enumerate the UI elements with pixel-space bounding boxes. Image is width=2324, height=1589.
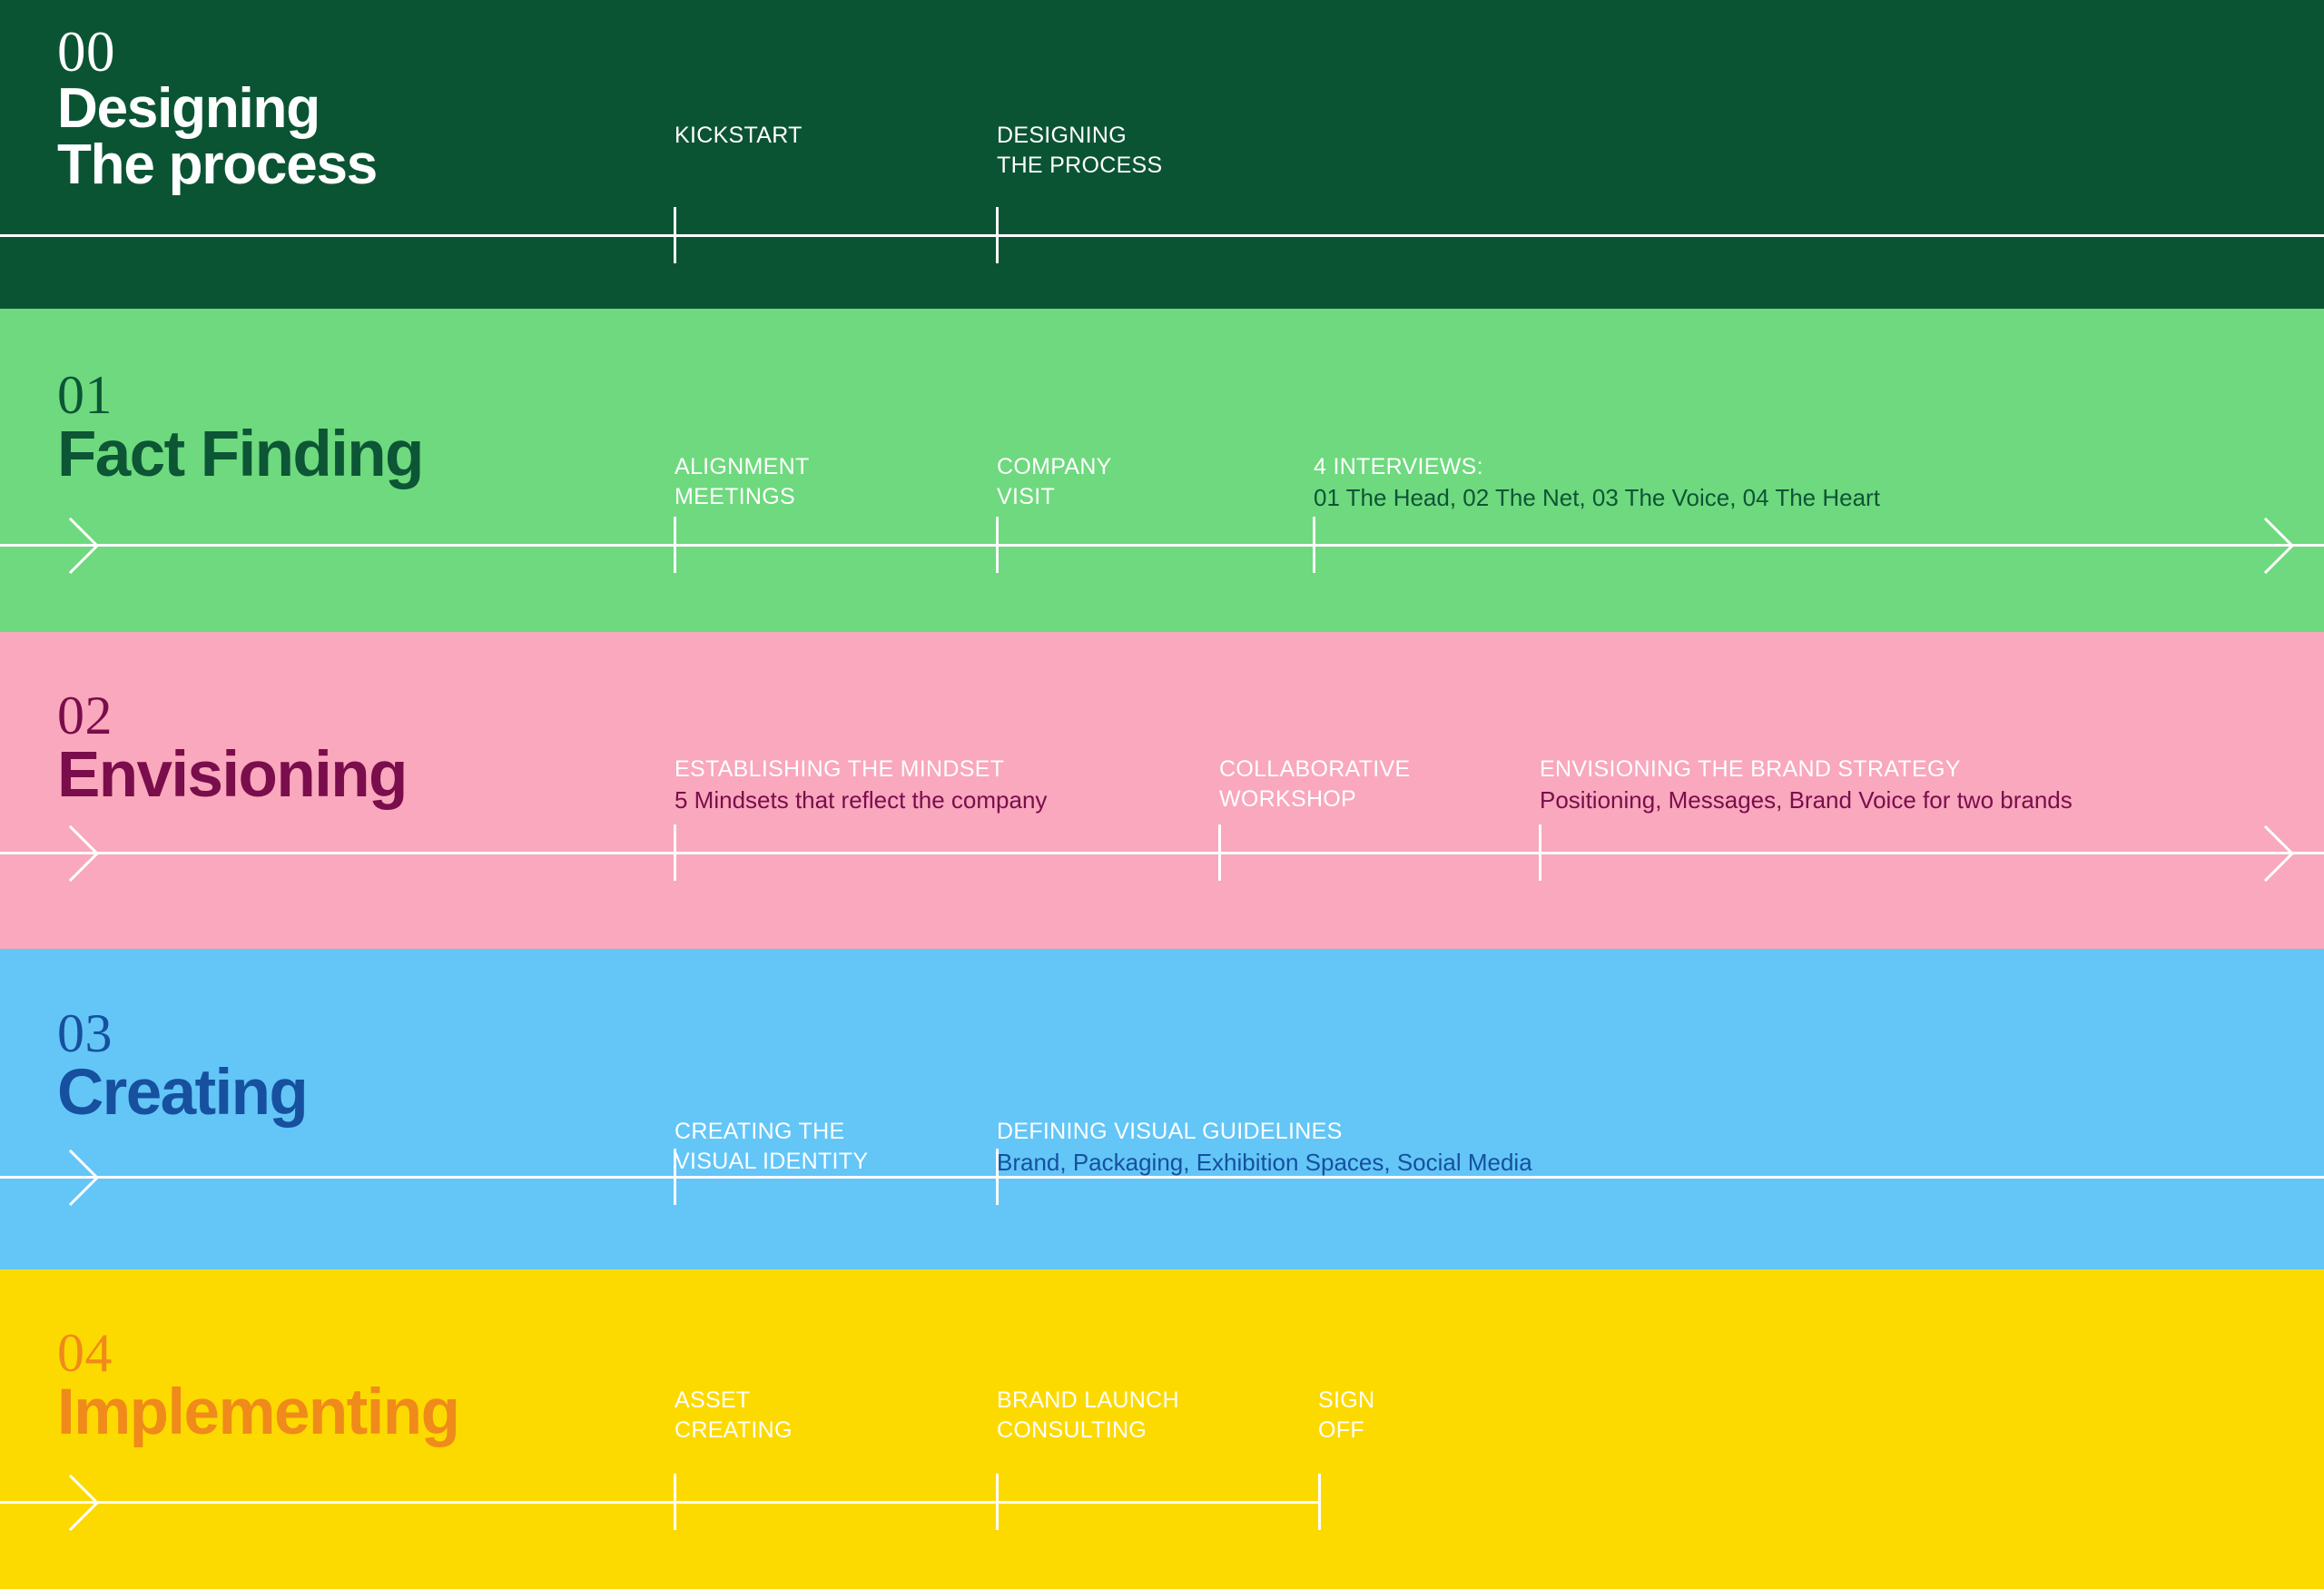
phase-03-timeline <box>0 1176 2324 1179</box>
phase-01-tick-2 <box>996 517 999 573</box>
phase-04-timeline-bar <box>0 1501 1321 1504</box>
phase-04-milestone-3[interactable]: SIGN OFF <box>1318 1386 1374 1446</box>
phase-02-milestone-1-caption: ESTABLISHING THE MINDSET <box>675 755 1047 785</box>
phase-04-milestone-2-caption-line1: BRAND LAUNCH <box>997 1386 1179 1416</box>
phase-04-milestone-1-caption-line1: ASSET <box>675 1386 793 1416</box>
phase-01-milestone-2-caption-line2: VISIT <box>997 482 1112 512</box>
phase-00-tick-1 <box>674 207 676 263</box>
phase-01-milestone-2[interactable]: COMPANY VISIT <box>997 452 1112 513</box>
phase-04-tick-2 <box>996 1474 999 1530</box>
phase-01-milestone-1[interactable]: ALIGNMENT MEETINGS <box>675 452 810 513</box>
phase-00-milestone-2[interactable]: DESIGNING THE PROCESS <box>997 121 1163 182</box>
phase-01-timeline <box>0 544 2324 548</box>
phase-01-milestone-3-sub: 01 The Head, 02 The Net, 03 The Voice, 0… <box>1314 482 1880 513</box>
phase-02-tick-3 <box>1539 824 1541 881</box>
phase-00-milestone-2-caption-line2: THE PROCESS <box>997 151 1163 181</box>
phase-02-tick-1 <box>674 824 676 881</box>
phase-03-milestone-2-sub: Brand, Packaging, Exhibition Spaces, Soc… <box>997 1147 1532 1178</box>
phase-03-number: 03 <box>57 1006 307 1061</box>
process-timeline-board: 00 Designing The process KICKSTART DESIG… <box>0 0 2324 1589</box>
phase-02-envisioning: 02 Envisioning ESTABLISHING THE MINDSET … <box>0 632 2324 949</box>
phase-02-arrow-end-icon <box>2238 825 2294 882</box>
phase-02-milestone-1-sub: 5 Mindsets that reflect the company <box>675 785 1047 815</box>
phase-02-milestone-1[interactable]: ESTABLISHING THE MINDSET 5 Mindsets that… <box>675 755 1047 816</box>
phase-00-title-line1: Designing <box>57 81 377 137</box>
phase-01-milestone-1-caption-line1: ALIGNMENT <box>675 452 810 482</box>
phase-03-creating: 03 Creating CREATING THE VISUAL IDENTITY… <box>0 949 2324 1269</box>
phase-02-milestone-3-sub: Positioning, Messages, Brand Voice for t… <box>1540 785 2073 815</box>
phase-01-heading: 01 Fact Finding <box>57 368 423 487</box>
phase-01-timeline-bar <box>0 544 2324 547</box>
phase-04-timeline <box>0 1501 2324 1505</box>
phase-02-arrow-start-icon <box>43 825 99 882</box>
phase-00-heading: 00 Designing The process <box>57 24 377 193</box>
phase-04-milestone-1-caption-line2: CREATING <box>675 1416 793 1446</box>
phase-03-arrow-start-icon <box>43 1150 99 1206</box>
phase-00-milestone-2-caption-line1: DESIGNING <box>997 121 1163 151</box>
phase-00-timeline <box>0 234 2324 238</box>
phase-01-arrow-end-icon <box>2238 518 2294 574</box>
phase-03-milestone-2[interactable]: DEFINING VISUAL GUIDELINES Brand, Packag… <box>997 1117 1532 1179</box>
phase-03-heading: 03 Creating <box>57 1006 307 1125</box>
phase-04-tick-1 <box>674 1474 676 1530</box>
phase-01-fact-finding: 01 Fact Finding ALIGNMENT MEETINGS COMPA… <box>0 309 2324 632</box>
phase-02-milestone-3[interactable]: ENVISIONING THE BRAND STRATEGY Positioni… <box>1540 755 2073 816</box>
phase-03-tick-2 <box>996 1149 999 1205</box>
phase-00-title-line2: The process <box>57 137 377 193</box>
phase-02-milestone-2-caption-line1: COLLABORATIVE <box>1219 755 1410 785</box>
phase-02-title: Envisioning <box>57 743 407 807</box>
phase-03-title: Creating <box>57 1061 307 1125</box>
phase-04-milestone-2-caption-line2: CONSULTING <box>997 1416 1179 1446</box>
phase-02-heading: 02 Envisioning <box>57 688 407 807</box>
phase-04-heading: 04 Implementing <box>57 1326 458 1445</box>
phase-04-number: 04 <box>57 1326 458 1380</box>
phase-03-milestone-1[interactable]: CREATING THE VISUAL IDENTITY <box>675 1117 868 1178</box>
phase-02-milestone-2-caption-line2: WORKSHOP <box>1219 785 1410 814</box>
phase-04-milestone-3-caption-line1: SIGN <box>1318 1386 1374 1416</box>
phase-04-milestone-1[interactable]: ASSET CREATING <box>675 1386 793 1446</box>
phase-02-milestone-3-caption: ENVISIONING THE BRAND STRATEGY <box>1540 755 2073 785</box>
phase-01-tick-3 <box>1313 517 1315 573</box>
phase-01-number: 01 <box>57 368 423 422</box>
phase-00-designing-the-process: 00 Designing The process KICKSTART DESIG… <box>0 0 2324 309</box>
phase-04-milestone-2[interactable]: BRAND LAUNCH CONSULTING <box>997 1386 1179 1446</box>
phase-02-timeline-bar <box>0 852 2324 854</box>
phase-03-tick-1 <box>674 1149 676 1205</box>
phase-02-timeline <box>0 852 2324 855</box>
phase-01-tick-1 <box>674 517 676 573</box>
phase-04-implementing: 04 Implementing ASSET CREATING BRAND LAU… <box>0 1269 2324 1589</box>
phase-03-timeline-bar <box>0 1176 2324 1179</box>
phase-01-arrow-start-icon <box>43 518 99 574</box>
phase-02-tick-2 <box>1218 824 1221 881</box>
phase-03-milestone-1-caption-line1: CREATING THE <box>675 1117 868 1147</box>
phase-01-title: Fact Finding <box>57 422 423 487</box>
phase-01-milestone-3-caption: 4 INTERVIEWS: <box>1314 452 1880 482</box>
phase-03-milestone-1-caption-line2: VISUAL IDENTITY <box>675 1147 868 1177</box>
phase-03-milestone-2-caption: DEFINING VISUAL GUIDELINES <box>997 1117 1532 1147</box>
phase-00-tick-2 <box>996 207 999 263</box>
phase-00-milestone-1[interactable]: KICKSTART <box>675 121 803 151</box>
phase-01-milestone-2-caption-line1: COMPANY <box>997 452 1112 482</box>
phase-02-milestone-2[interactable]: COLLABORATIVE WORKSHOP <box>1219 755 1410 815</box>
phase-04-arrow-start-icon <box>43 1475 99 1531</box>
phase-01-milestone-3[interactable]: 4 INTERVIEWS: 01 The Head, 02 The Net, 0… <box>1314 452 1880 514</box>
phase-04-tick-3 <box>1318 1474 1321 1530</box>
phase-04-title: Implementing <box>57 1380 458 1445</box>
phase-04-milestone-3-caption-line2: OFF <box>1318 1416 1374 1446</box>
phase-02-number: 02 <box>57 688 407 743</box>
phase-00-timeline-bar <box>0 234 2324 237</box>
phase-01-milestone-1-caption-line2: MEETINGS <box>675 482 810 512</box>
phase-00-number: 00 <box>57 24 377 81</box>
phase-00-milestone-1-caption: KICKSTART <box>675 121 803 151</box>
